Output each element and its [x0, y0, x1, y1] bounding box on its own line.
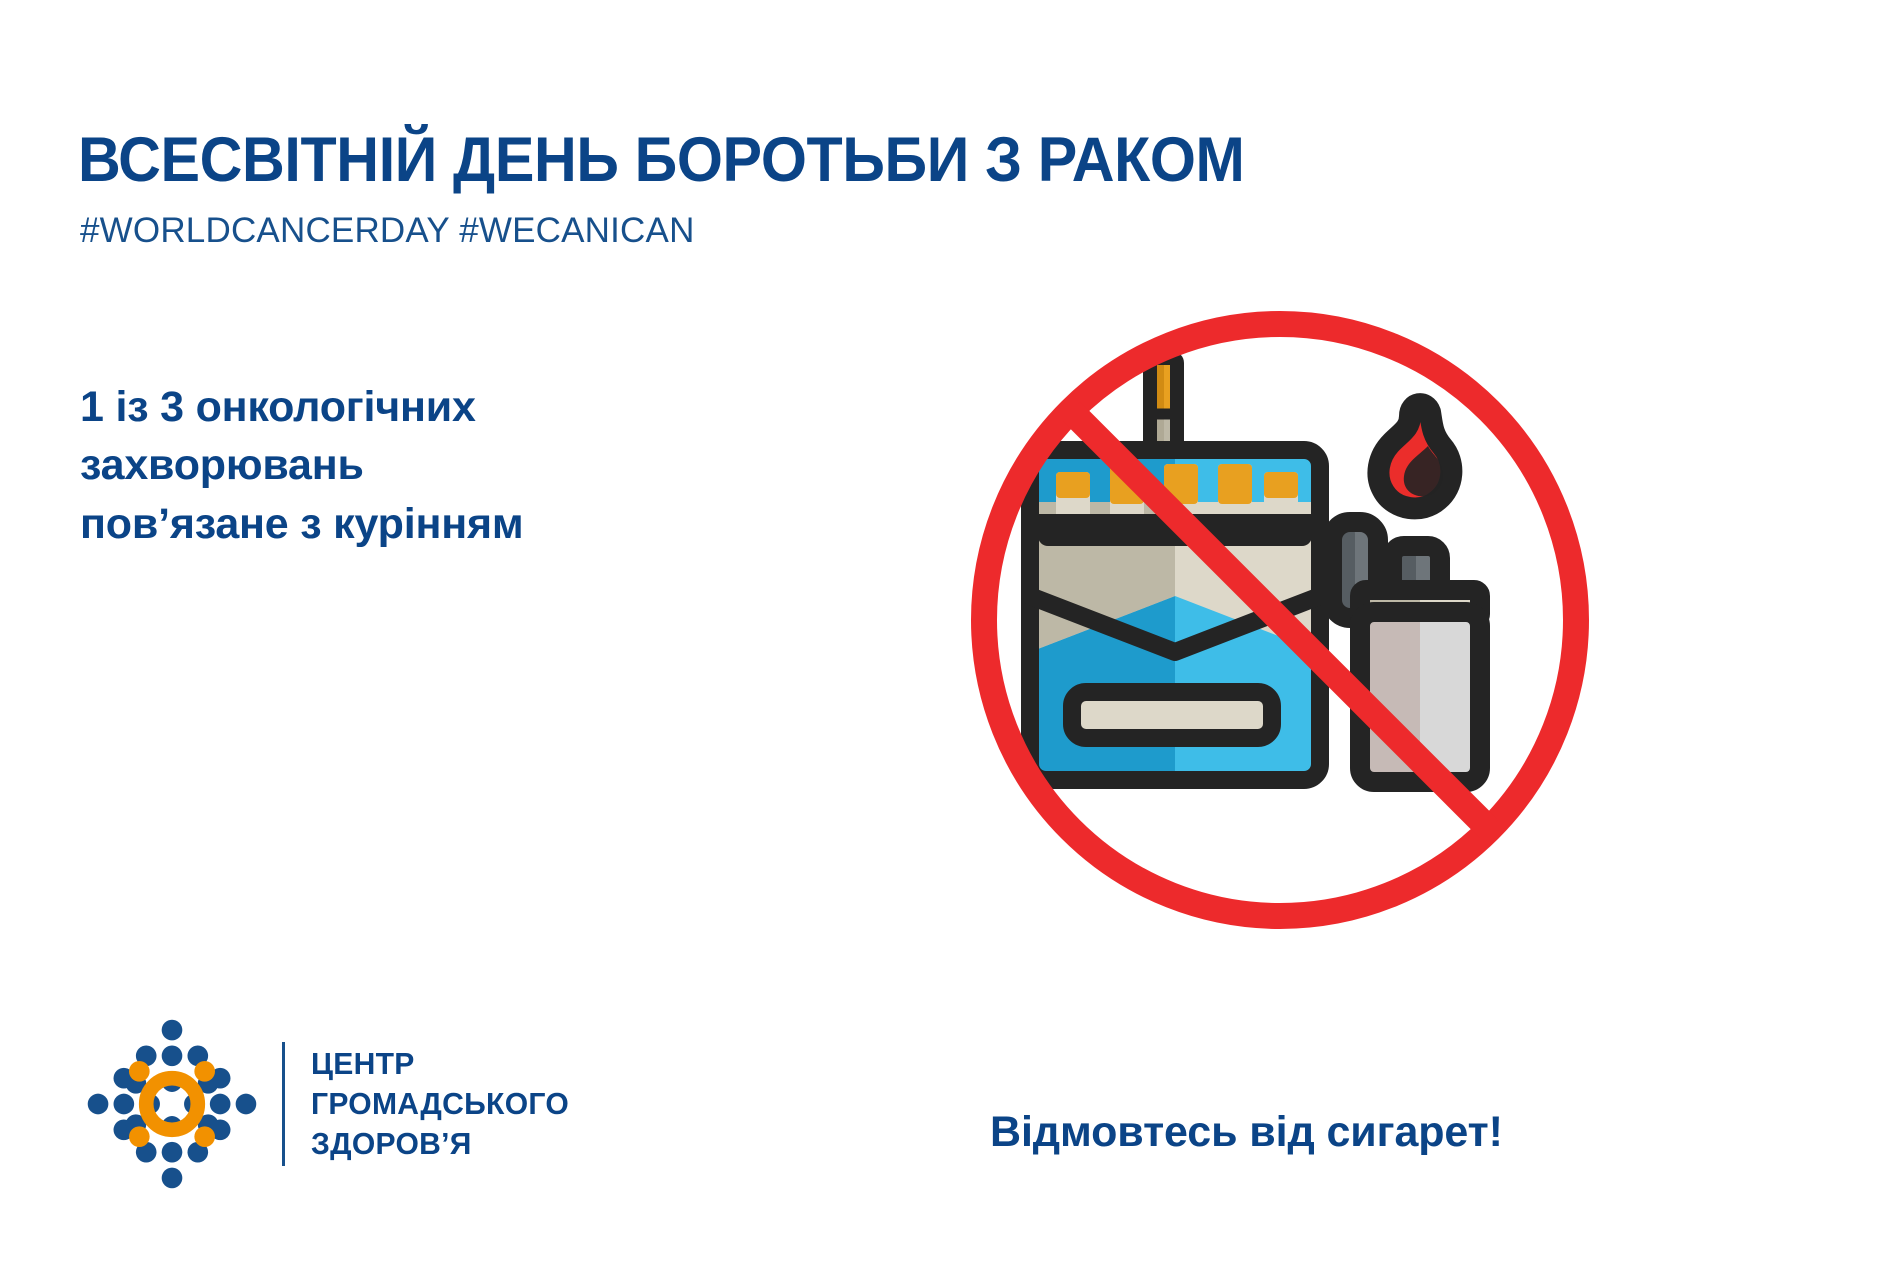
hashtags-line: #WORLDCANCERDAY #WECANICAN — [80, 212, 695, 251]
poster-canvas: ВСЕСВІТНІЙ ДЕНЬ БОРОТЬБИ З РАКОМ #WORLDC… — [0, 0, 1904, 1264]
lighter-icon — [1332, 404, 1480, 782]
call-to-action-tagline: Відмовтесь від сигарет! — [990, 1108, 1503, 1157]
flame-icon — [1378, 404, 1451, 508]
logo-line-1: ЦЕНТР — [311, 1044, 569, 1084]
logo-wordmark: ЦЕНТР ГРОМАДСЬКОГО ЗДОРОВ’Я — [311, 1044, 569, 1165]
page-title: ВСЕСВІТНІЙ ДЕНЬ БОРОТЬБИ З РАКОМ — [78, 128, 1245, 194]
organisation-logo: ЦЕНТР ГРОМАДСЬКОГО ЗДОРОВ’Я — [86, 1018, 577, 1190]
logo-line-2: ГРОМАДСЬКОГО — [311, 1084, 569, 1124]
pack-bottom-label — [1072, 692, 1272, 738]
statistic-block: 1 із 3 онкологічних захворювань пов’язан… — [80, 378, 524, 553]
no-smoking-illustration — [960, 300, 1600, 940]
statistic-line-3: пов’язане з курінням — [80, 495, 524, 553]
public-health-center-dot-diamond-icon — [86, 1018, 258, 1190]
statistic-line-2: захворювань — [80, 436, 524, 494]
statistic-line-1: 1 із 3 онкологічних — [80, 378, 524, 436]
logo-line-3: ЗДОРОВ’Я — [311, 1124, 569, 1164]
logo-divider — [282, 1042, 285, 1166]
